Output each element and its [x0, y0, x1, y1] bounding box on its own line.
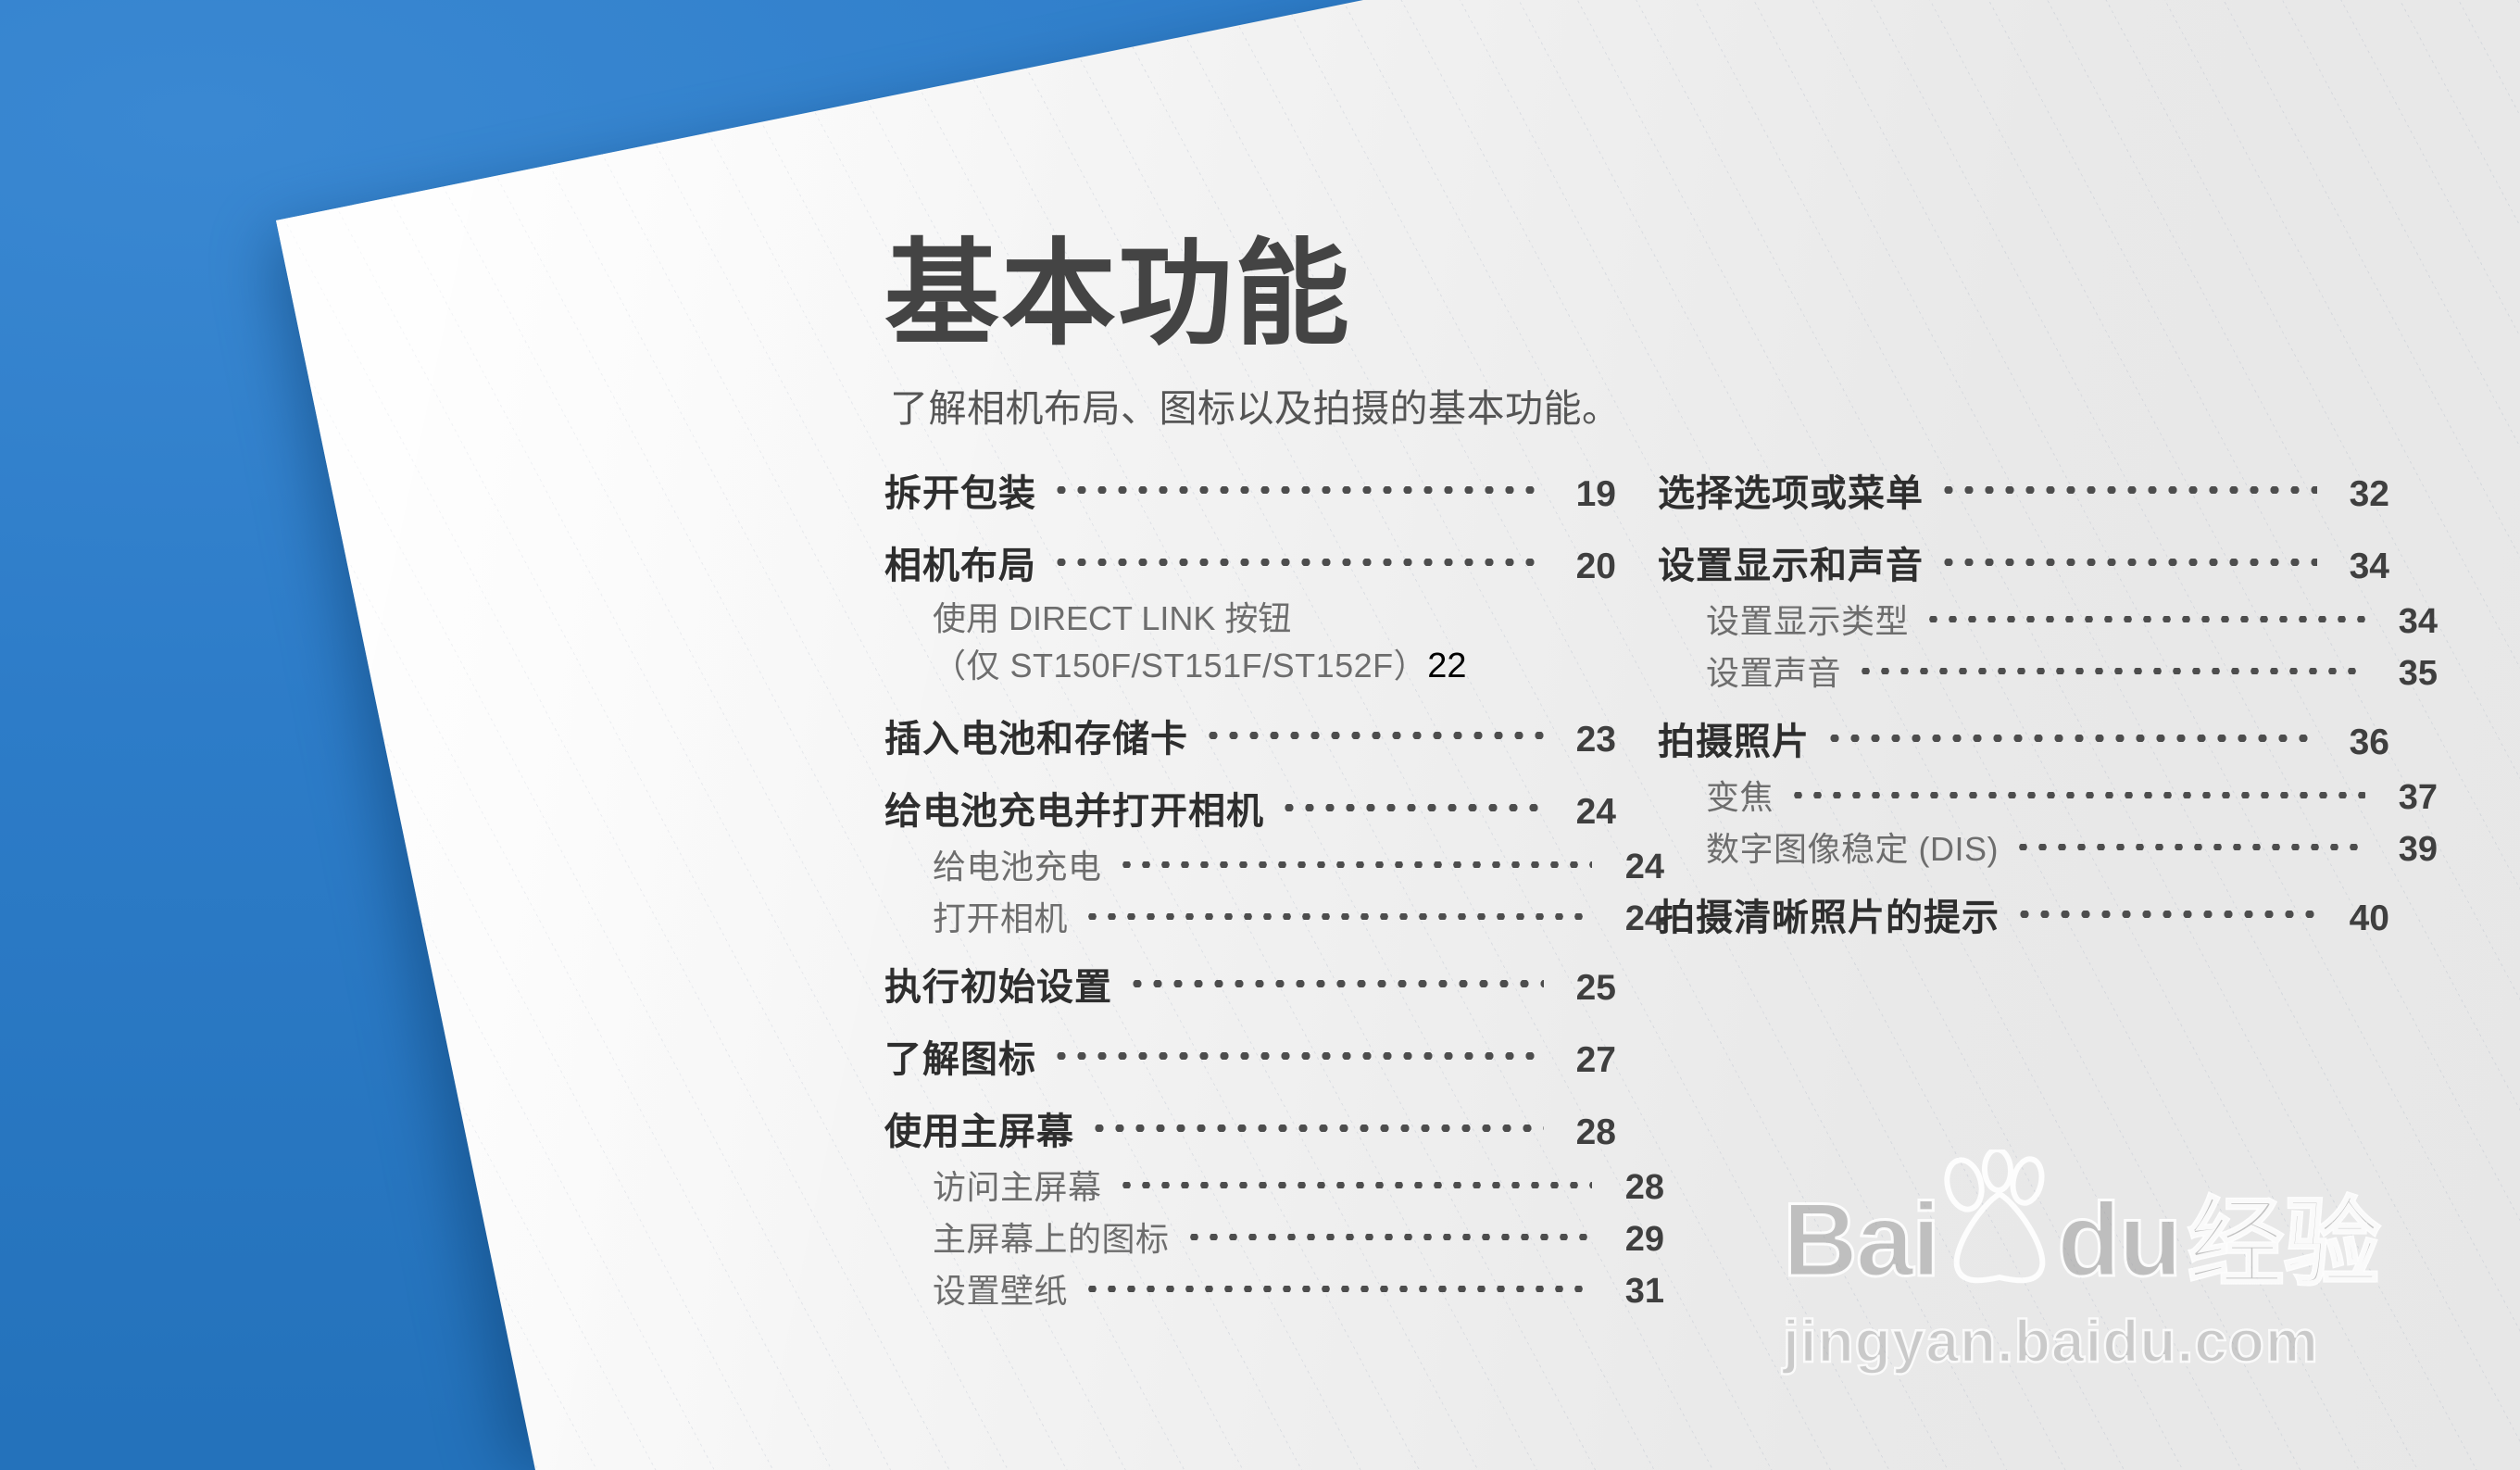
- toc-spacer: [884, 768, 1616, 781]
- toc-entry[interactable]: 拍摄清晰照片的提示40: [1658, 887, 2389, 941]
- toc-entry-label: 给电池充电: [933, 840, 1102, 888]
- toc-leader-dots: [1279, 798, 1544, 817]
- toc-entry[interactable]: 拆开包装19: [884, 463, 1616, 517]
- toc-page-number: 24: [1607, 899, 1664, 939]
- toc-entry[interactable]: 相机布局20: [884, 535, 1616, 589]
- toc-page-number: 24: [1559, 792, 1616, 833]
- toc-entry-label: 拍摄照片: [1658, 711, 1810, 765]
- toc-entry[interactable]: 执行初始设置25: [884, 957, 1616, 1011]
- toc-entry[interactable]: 主屏幕上的图标29: [884, 1212, 1664, 1261]
- toc-spacer: [1658, 874, 2389, 887]
- toc-page-number: 28: [1559, 1112, 1616, 1153]
- toc-page-number: 34: [2380, 602, 2438, 642]
- toc-entry-label: 主屏幕上的图标: [933, 1212, 1170, 1261]
- toc-spacer: [884, 1088, 1616, 1101]
- toc-entry[interactable]: 了解图标27: [884, 1029, 1616, 1083]
- toc-column-right: 选择选项或菜单32设置显示和声音34设置显示类型34设置声音35拍摄照片36变焦…: [1658, 463, 2389, 947]
- toc-page-number: 29: [1607, 1220, 1664, 1260]
- toc-entry[interactable]: 设置显示类型34: [1658, 595, 2438, 643]
- baidu-watermark: Bai du 经验 jingyan.baidu.com: [1783, 1153, 2450, 1394]
- toc-leader-dots: [2013, 837, 2365, 856]
- page-content: 基本功能 了解相机布局、图标以及拍摄的基本功能。 拆开包装19相机布局20使用 …: [0, 0, 2520, 1470]
- toc-entry[interactable]: 选择选项或菜单32: [1658, 463, 2389, 517]
- toc-leader-dots: [1185, 1227, 1592, 1246]
- toc-page-number: 36: [2332, 722, 2389, 763]
- toc-page-number: 20: [1559, 547, 1616, 587]
- toc-entry-label: 使用主屏幕: [884, 1101, 1074, 1155]
- toc-entry[interactable]: 拍摄照片36: [1658, 711, 2389, 765]
- toc-entry-label: 相机布局: [884, 535, 1036, 589]
- toc-entry-label: 设置壁纸: [933, 1264, 1068, 1313]
- toc-entry-label: 给电池充电并打开相机: [884, 781, 1264, 835]
- toc-leader-dots: [1938, 481, 2317, 499]
- paw-print-icon: [1927, 1150, 2066, 1288]
- toc-page-number: 31: [1607, 1272, 1664, 1312]
- toc-entry-label: （仅 ST150F/ST151F/ST152F）: [933, 642, 1427, 689]
- toc-entry[interactable]: 打开相机24: [884, 892, 1664, 940]
- toc-entry[interactable]: 给电池充电并打开相机24: [884, 781, 1616, 835]
- toc-entry[interactable]: 插入电池和存储卡23: [884, 709, 1616, 762]
- toc-entry[interactable]: 给电池充电24: [884, 840, 1664, 888]
- toc-spacer: [1658, 522, 2389, 535]
- toc-page-number: 23: [1559, 720, 1616, 760]
- toc-leader-dots: [2014, 905, 2317, 923]
- toc-entry[interactable]: 使用 DIRECT LINK 按钮（仅 ST150F/ST151F/ST152F…: [884, 595, 1616, 692]
- toc-entry-label: 拆开包装: [884, 463, 1036, 517]
- toc-page-number: 27: [1559, 1040, 1616, 1081]
- toc-spacer: [1658, 698, 2389, 711]
- page-subtitle: 了解相机布局、图标以及拍摄的基本功能。: [890, 377, 2181, 433]
- toc-entry-label: 设置显示类型: [1706, 595, 1909, 643]
- toc-page-number: 25: [1559, 968, 1616, 1009]
- toc-entry-label: 设置显示和声音: [1658, 535, 1924, 589]
- toc-entry[interactable]: 变焦37: [1658, 771, 2438, 819]
- toc-entry-label-line1: 使用 DIRECT LINK 按钮: [933, 595, 1616, 642]
- toc-entry-label: 数字图像稳定 (DIS): [1706, 823, 1999, 871]
- toc-leader-dots: [1051, 1047, 1544, 1065]
- toc-leader-dots: [1788, 785, 2365, 804]
- toc-leader-dots: [1203, 726, 1544, 745]
- toc-leader-dots: [1117, 1175, 1592, 1194]
- toc-entry[interactable]: 使用主屏幕28: [884, 1101, 1616, 1155]
- toc-leader-dots: [1924, 609, 2365, 628]
- toc-entry[interactable]: 访问主屏幕28: [884, 1161, 1664, 1209]
- title-block: 基本功能 了解相机布局、图标以及拍摄的基本功能。: [884, 236, 2181, 433]
- toc-spacer: [884, 944, 1616, 957]
- toc-entry-label: 设置声音: [1706, 647, 1841, 695]
- toc-page-number: 22: [1427, 642, 1466, 692]
- toc-leader-dots: [1083, 1279, 1592, 1298]
- watermark-url: jingyan.baidu.com: [1783, 1307, 2450, 1376]
- toc-entry[interactable]: 设置显示和声音34: [1658, 535, 2389, 589]
- toc-entry[interactable]: 设置声音35: [1658, 647, 2438, 695]
- toc-page-number: 37: [2380, 778, 2438, 818]
- toc-entry[interactable]: 设置壁纸31: [884, 1264, 1664, 1313]
- toc-entry-line2: （仅 ST150F/ST151F/ST152F）22: [933, 642, 1616, 692]
- toc-spacer: [884, 522, 1616, 535]
- toc-entry-label: 拍摄清晰照片的提示: [1658, 887, 2000, 941]
- toc-leader-dots: [1083, 907, 1592, 925]
- toc-entry-label: 插入电池和存储卡: [884, 709, 1188, 762]
- toc-entry-label: 访问主屏幕: [933, 1161, 1102, 1209]
- toc-page-number: 34: [2332, 547, 2389, 587]
- toc-spacer: [884, 696, 1616, 709]
- toc-entry[interactable]: 数字图像稳定 (DIS)39: [1658, 823, 2438, 871]
- toc-leader-dots: [1938, 553, 2317, 572]
- watermark-cn-text: 经验: [2188, 1196, 2380, 1292]
- toc-page-number: 28: [1607, 1168, 1664, 1208]
- toc-page-number: 24: [1607, 848, 1664, 887]
- toc-page-number: 32: [2332, 474, 2389, 515]
- toc-column-left: 拆开包装19相机布局20使用 DIRECT LINK 按钮（仅 ST150F/S…: [884, 463, 1616, 1316]
- toc-leader-dots: [1051, 481, 1544, 499]
- toc-page-number: 39: [2380, 830, 2438, 870]
- toc-leader-dots: [1824, 729, 2317, 748]
- toc-leader-dots: [1051, 553, 1544, 572]
- toc-entry-label: 打开相机: [933, 892, 1068, 940]
- toc-page-number: 19: [1559, 474, 1616, 515]
- toc-entry-label: 执行初始设置: [884, 957, 1112, 1011]
- toc-page-number: 35: [2380, 654, 2438, 694]
- watermark-du: du: [2057, 1188, 2180, 1292]
- toc-page-number: 40: [2332, 898, 2389, 939]
- toc-leader-dots: [1089, 1119, 1544, 1137]
- toc-entry-label: 选择选项或菜单: [1658, 463, 1924, 517]
- page-title: 基本功能: [884, 236, 2181, 353]
- toc-entry-label: 了解图标: [884, 1029, 1036, 1083]
- toc-leader-dots: [1117, 855, 1592, 873]
- toc-leader-dots: [1856, 661, 2365, 680]
- watermark-bai: Bai: [1783, 1188, 1938, 1292]
- toc-spacer: [884, 1016, 1616, 1029]
- toc-entry-label: 变焦: [1706, 771, 1774, 819]
- toc-leader-dots: [1127, 974, 1544, 993]
